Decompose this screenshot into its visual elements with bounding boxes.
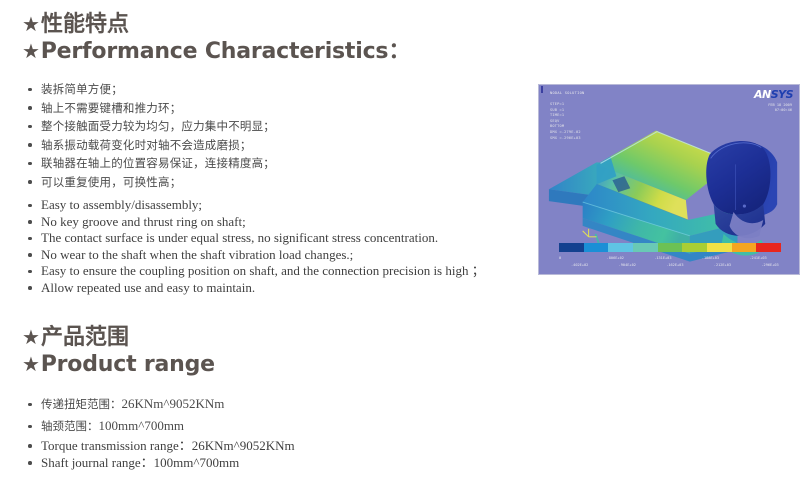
performance-heading-cn-row: ★性能特点	[22, 12, 129, 38]
fea-stress-plot-figure: NODAL SOLUTION STEP=1 SUB =1 TIME=1 SEQV…	[538, 84, 800, 275]
list-item-text: Allow repeated use and easy to maintain.	[41, 280, 255, 295]
colorbar-band	[756, 243, 781, 252]
star-icon: ★	[22, 352, 40, 376]
list-item: Easy to assembly/disassembly;	[28, 197, 485, 214]
list-item-text: 整个接触面受力较为均匀，应力集中不明显；	[41, 119, 275, 133]
bullet-dot-icon	[28, 125, 32, 129]
colorbar-band	[608, 243, 633, 252]
product-range-heading-cn-row: ★产品范围	[22, 325, 129, 351]
list-item: Torque transmission range：26KNm^9052KNm	[28, 437, 295, 454]
colorbar-label: .162E+03	[666, 263, 714, 267]
colorbar-band	[658, 243, 683, 252]
colorbar-label: .241E+03	[749, 256, 797, 260]
colorbar-band	[732, 243, 757, 252]
list-item: 整个接触面受力较为均匀，应力集中不明显；	[28, 117, 275, 136]
performance-heading-cn-text: 性能特点	[41, 12, 129, 37]
colorbar-label: .904E+02	[619, 263, 667, 267]
performance-heading-cn: ★性能特点	[22, 12, 129, 38]
list-item-text: No wear to the shaft when the shaft vibr…	[41, 247, 353, 262]
product-range-heading-en-text: Product range	[41, 352, 215, 377]
bullet-dot-icon	[28, 237, 32, 241]
list-item: 传递扭矩范围：26KNm^9052KNm	[28, 393, 224, 415]
fea-colorbar-labels-top: 0 .806E+02 .131E+03 .188E+03 .241E+03	[559, 256, 797, 260]
list-item-text: The contact surface is under equal stres…	[41, 230, 438, 245]
list-item-label: 轴颈范围：	[41, 419, 99, 433]
colorbar-band	[682, 243, 707, 252]
list-item: No key groove and thrust ring on shaft;	[28, 214, 485, 231]
product-range-heading-en: ★Product range	[22, 351, 215, 379]
list-item: 装拆简单方便；	[28, 80, 275, 99]
colorbar-label: .402E+02	[571, 263, 619, 267]
list-item-text: 轴上不需要键槽和推力环；	[41, 101, 181, 115]
bullet-dot-icon	[28, 180, 32, 184]
star-icon: ★	[22, 325, 40, 349]
star-icon: ★	[22, 39, 40, 63]
list-item: 轴颈范围：100mm^700mm	[28, 415, 224, 437]
list-item: No wear to the shaft when the shaft vibr…	[28, 247, 485, 264]
list-item-text: No key groove and thrust ring on shaft;	[41, 214, 246, 229]
list-item-value: 26KNm^9052KNm	[122, 396, 225, 411]
list-item-value: 100mm^700mm	[99, 418, 185, 433]
product-range-bullets-en: Torque transmission range：26KNm^9052KNm …	[28, 437, 295, 471]
colorbar-band	[559, 243, 584, 252]
list-item: 联轴器在轴上的位置容易保证，连接精度高；	[28, 154, 275, 173]
performance-bullets-cn: 装拆简单方便； 轴上不需要键槽和推力环； 整个接触面受力较为均匀，应力集中不明显…	[28, 80, 275, 191]
colorbar-band	[633, 243, 658, 252]
bullet-dot-icon	[28, 444, 32, 448]
colorbar-label: .296E+03	[761, 263, 800, 267]
product-range-heading-en-row: ★Product range	[22, 351, 215, 379]
list-item-text: Shaft journal range：100mm^700mm	[41, 455, 239, 470]
list-item-text: Easy to assembly/disassembly;	[41, 197, 202, 212]
list-item-text: 装拆简单方便；	[41, 82, 123, 96]
bullet-dot-icon	[28, 286, 32, 290]
bullet-dot-icon	[28, 220, 32, 224]
performance-heading-en-row: ★Performance Characteristics：	[22, 38, 410, 66]
bullet-dot-icon	[28, 461, 32, 465]
fea-colorbar	[559, 243, 781, 252]
list-item-text: 可以重复使用，可换性高；	[41, 175, 181, 189]
colorbar-label: 0	[559, 256, 607, 260]
bullet-dot-icon	[28, 88, 32, 92]
bullet-dot-icon	[28, 204, 32, 208]
colorbar-label: .131E+03	[654, 256, 702, 260]
bullet-dot-icon	[28, 270, 32, 274]
bullet-dot-icon	[28, 425, 32, 429]
list-item: 轴上不需要键槽和推力环；	[28, 99, 275, 118]
list-item: Easy to ensure the coupling position on …	[28, 263, 485, 280]
list-item-text: Torque transmission range：26KNm^9052KNm	[41, 438, 295, 453]
list-item: 轴系振动载荷变化时对轴不会造成磨损；	[28, 136, 275, 155]
page-root: ★性能特点 ★Performance Characteristics： 装拆简单…	[0, 0, 811, 477]
list-item: The contact surface is under equal stres…	[28, 230, 485, 247]
star-icon: ★	[22, 12, 40, 36]
colorbar-band	[707, 243, 732, 252]
bullet-dot-icon	[28, 143, 32, 147]
list-item-text: 联轴器在轴上的位置容易保证，连接精度高；	[41, 156, 275, 170]
list-item-text: Easy to ensure the coupling position on …	[41, 263, 485, 278]
bullet-dot-icon	[28, 106, 32, 110]
list-item: Shaft journal range：100mm^700mm	[28, 454, 295, 471]
colorbar-band	[584, 243, 609, 252]
performance-heading-en: ★Performance Characteristics：	[22, 38, 410, 66]
colorbar-label: .212E+03	[714, 263, 762, 267]
list-item-text: 轴系振动载荷变化时对轴不会造成磨损；	[41, 138, 252, 152]
performance-heading-en-text: Performance Characteristics：	[41, 39, 410, 64]
performance-bullets-en: Easy to assembly/disassembly; No key gro…	[28, 197, 485, 296]
bullet-dot-icon	[28, 162, 32, 166]
list-item: 可以重复使用，可换性高；	[28, 173, 275, 192]
bullet-dot-icon	[28, 403, 32, 407]
product-range-heading-cn: ★产品范围	[22, 325, 129, 351]
colorbar-label: .806E+02	[607, 256, 655, 260]
product-range-heading-cn-text: 产品范围	[41, 325, 129, 350]
colorbar-label: .188E+03	[702, 256, 750, 260]
bullet-dot-icon	[28, 253, 32, 257]
product-range-bullets-cn: 传递扭矩范围：26KNm^9052KNm 轴颈范围：100mm^700mm	[28, 393, 224, 437]
fea-colorbar-labels-bottom: .402E+02 .904E+02 .162E+03 .212E+03 .296…	[559, 263, 800, 267]
list-item: Allow repeated use and easy to maintain.	[28, 280, 485, 297]
list-item-label: 传递扭矩范围：	[41, 397, 122, 411]
